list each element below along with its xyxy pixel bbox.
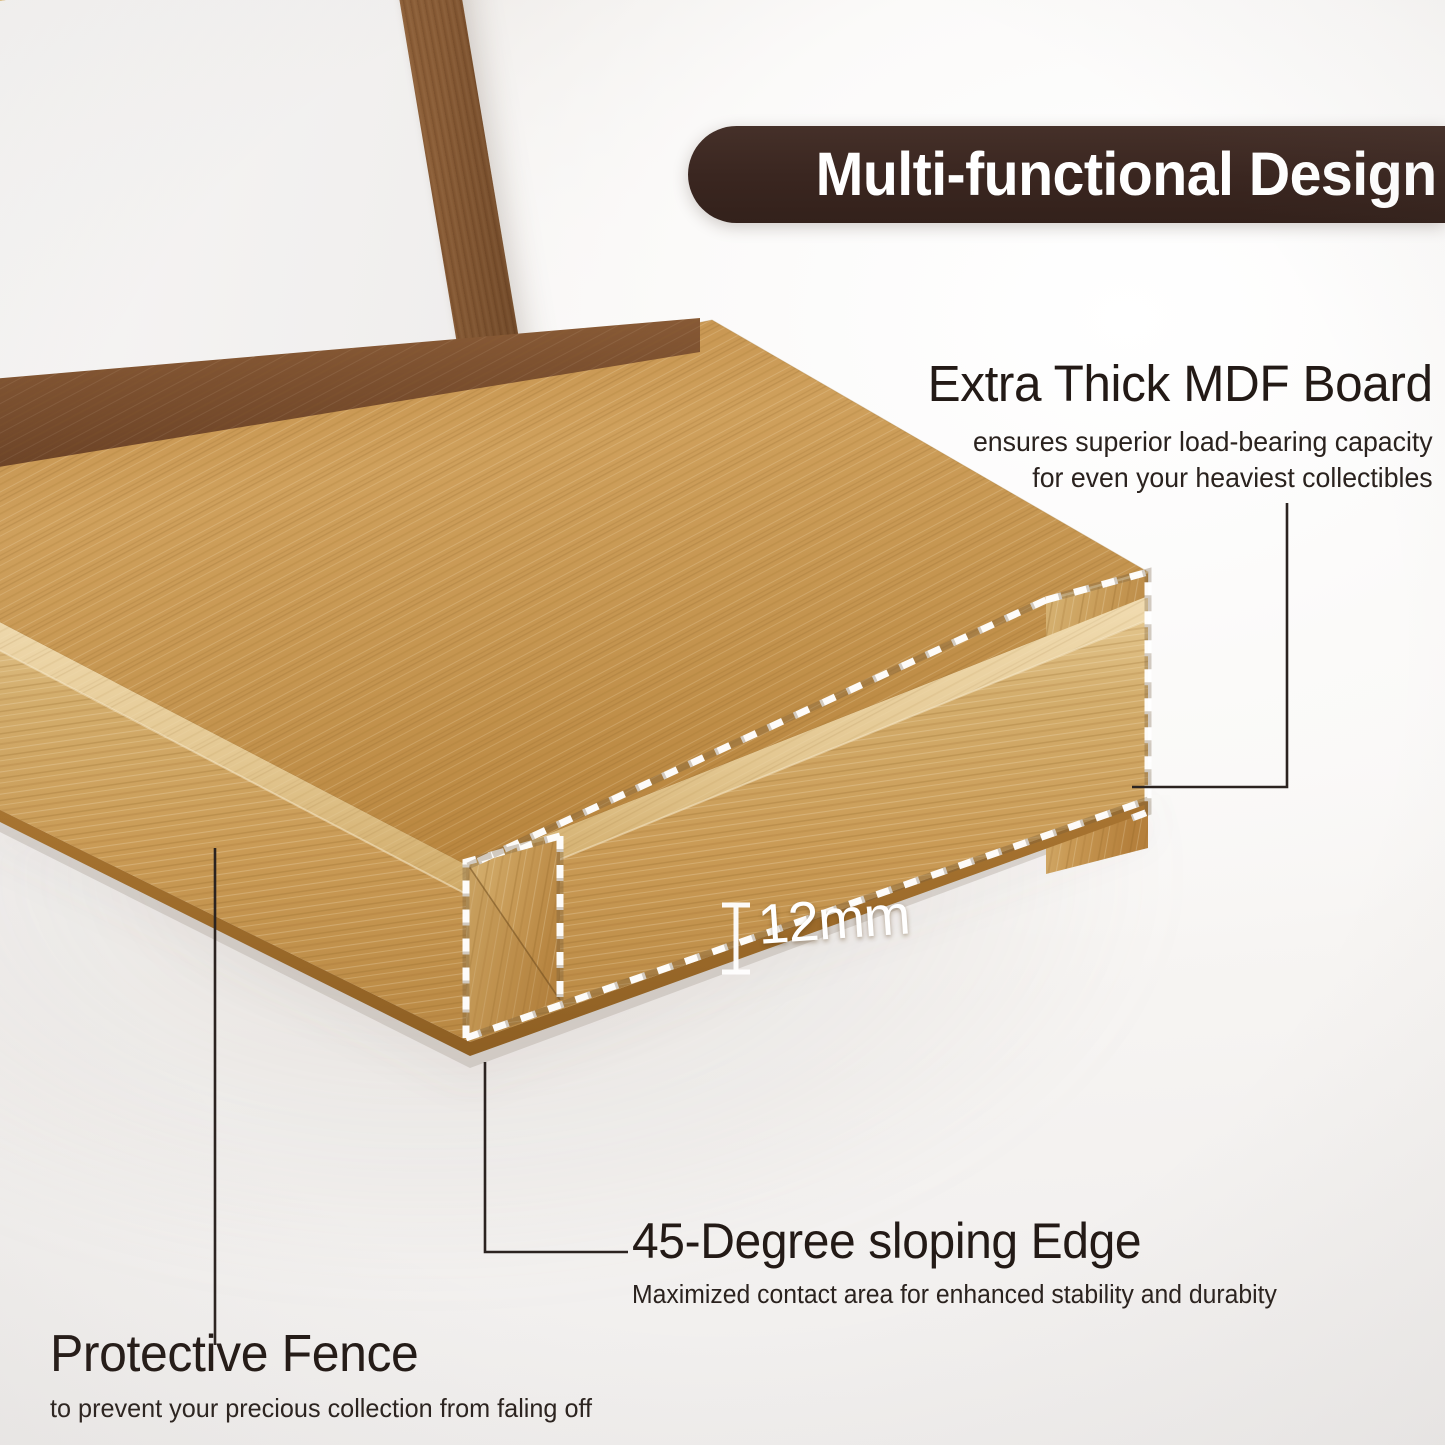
image-vignette	[0, 0, 1445, 1445]
product-feature-image: Multi-functional Design Extra Thick MDF …	[0, 0, 1445, 1445]
